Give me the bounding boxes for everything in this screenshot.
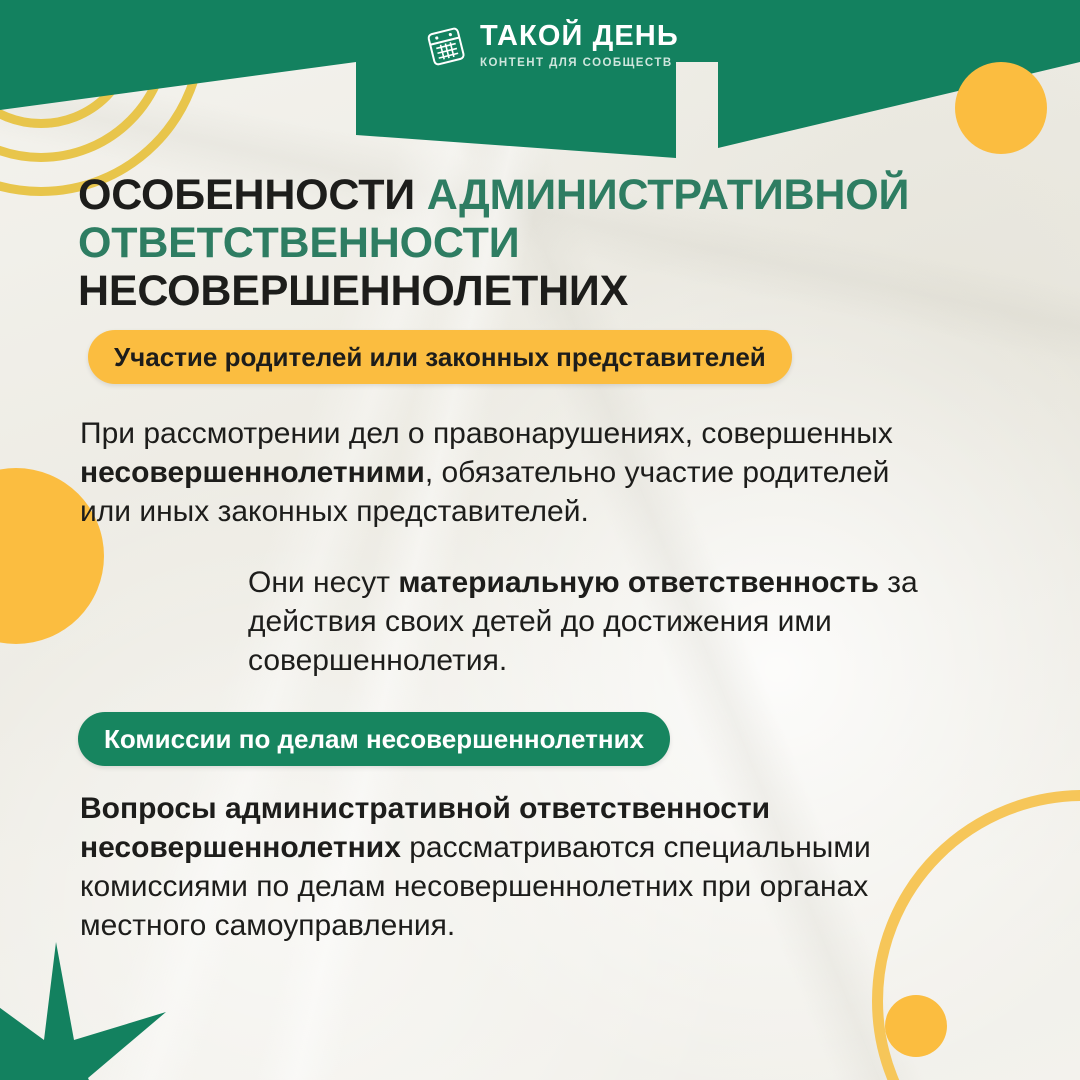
paragraph-commissions: Вопросы административной ответственности… [80,789,930,945]
text-run: При рассмотрении дел о правонарушениях, … [80,417,893,450]
title-part-plain-2: НЕСОВЕРШЕННОЛЕТНИХ [78,267,628,315]
title-part-accent-2: ОТВЕТСТВЕННОСТИ [78,219,519,267]
page-title: ОСОБЕННОСТИ АДМИНИСТРАТИВНОЙ ОТВЕТСТВЕНН… [78,171,958,315]
text-emphasis: материальную ответственность [398,566,879,599]
section-badge-parents: Участие родителей или законных представи… [88,330,792,384]
poster-content: ОСОБЕННОСТИ АДМИНИСТРАТИВНОЙ ОТВЕТСТВЕНН… [0,0,1080,1080]
paragraph-material-liability: Они несут материальную ответственность з… [248,563,1008,680]
section-badge-commissions: Комиссии по делам несовершеннолетних [78,712,670,766]
text-run: Они несут [248,566,398,599]
title-part-plain-1: ОСОБЕННОСТИ [78,171,427,219]
title-part-accent-1: АДМИНИСТРАТИВНОЙ [427,171,909,219]
text-emphasis: несовершеннолетними [80,456,425,489]
infographic-poster: ТАКОЙ ДЕНЬ КОНТЕНТ ДЛЯ СООБЩЕСТВ ОСОБЕНН… [0,0,1080,1080]
paragraph-parents-participation: При рассмотрении дел о правонарушениях, … [80,414,900,531]
